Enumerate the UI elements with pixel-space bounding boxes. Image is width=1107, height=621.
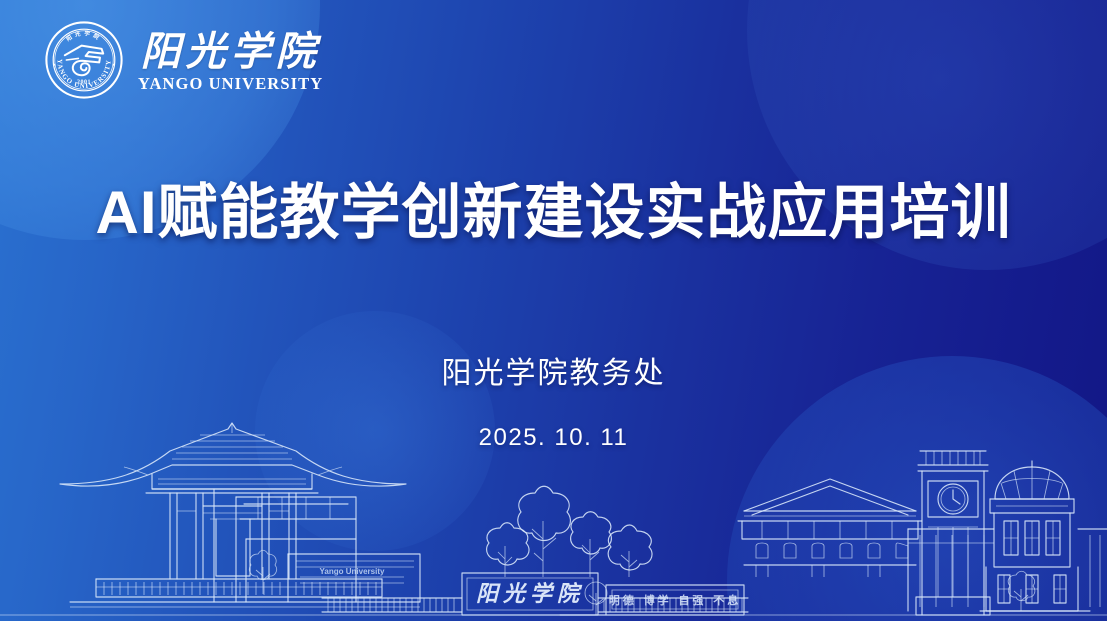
logo-name-cn: 阳光学院 xyxy=(141,31,321,73)
university-seal-icon: YANGO UNIVERSITY 阳光学院 2001 xyxy=(44,20,124,100)
page-title: AI赋能教学创新建设实战应用培训 xyxy=(0,178,1107,249)
building-label-en: Yango University xyxy=(320,567,385,576)
classical-hall-and-clock-tower: 明德 博学 自强 不息 xyxy=(560,451,990,615)
motto-banner-text: 明德 博学 自强 不息 xyxy=(609,593,742,607)
logo-wordmark: 阳光学院 YANGO UNIVERSITY xyxy=(138,27,323,94)
title-block: AI赋能教学创新建设实战应用培训 阳光学院教务处 2025. 10. 11 xyxy=(0,178,1107,452)
seal-year: 2001 xyxy=(77,80,91,86)
campus-entrance-sign: 阳光学院 xyxy=(322,486,748,615)
slide-date: 2025. 10. 11 xyxy=(0,392,1107,452)
logo-name-en: YANGO UNIVERSITY xyxy=(138,74,323,94)
subtitle-organization: 阳光学院教务处 xyxy=(0,249,1107,392)
campus-sign-text: 阳光学院 xyxy=(476,581,584,607)
modern-academic-building: Yango University xyxy=(214,489,420,602)
university-logo-lockup: YANGO UNIVERSITY 阳光学院 2001 阳光学院 YANGO UN… xyxy=(44,20,323,100)
presentation-slide: YANGO UNIVERSITY 阳光学院 2001 阳光学院 YANGO UN… xyxy=(0,0,1107,621)
domed-library-building xyxy=(908,461,1107,611)
